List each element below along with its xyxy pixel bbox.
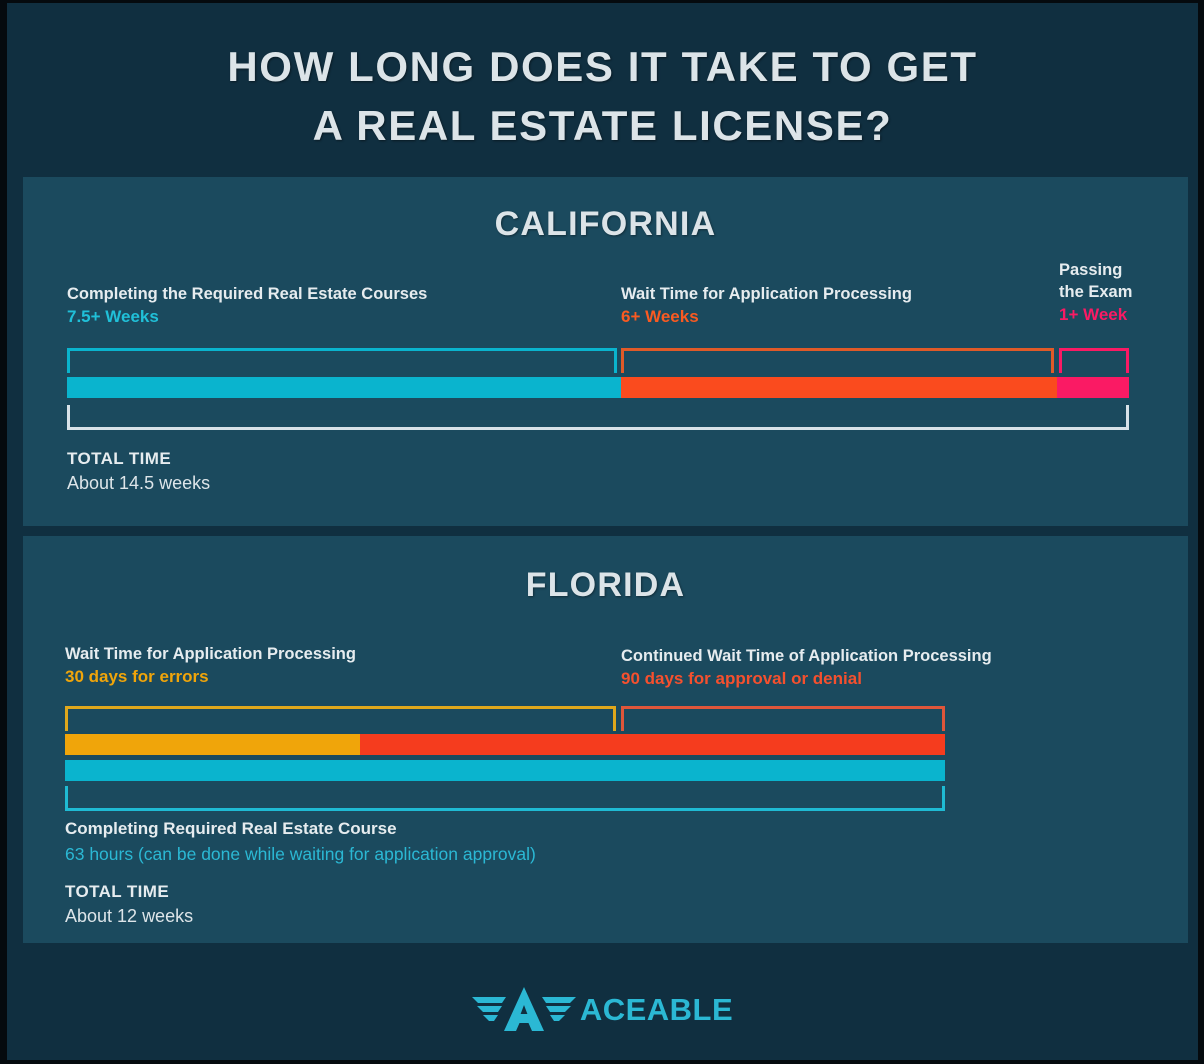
florida-total-label: TOTAL TIME bbox=[65, 880, 193, 903]
california-bar-segment-exam bbox=[1057, 377, 1129, 398]
florida-course-note-value: 63 hours (can be done while waiting for … bbox=[65, 841, 536, 867]
page-title-line-1: HOW LONG DOES IT TAKE TO GET bbox=[7, 37, 1198, 96]
florida-total-value: About 12 weeks bbox=[65, 903, 193, 929]
infographic-root: HOW LONG DOES IT TAKE TO GET A REAL ESTA… bbox=[0, 0, 1204, 1064]
california-total-block: TOTAL TIME About 14.5 weeks bbox=[67, 447, 210, 496]
florida-bar-segment-wait bbox=[65, 734, 360, 755]
california-bracket-wait bbox=[621, 348, 1054, 373]
page-title-line-2: A REAL ESTATE LICENSE? bbox=[7, 96, 1198, 155]
footer-logo: ACEABLE bbox=[7, 983, 1198, 1035]
california-total-label: TOTAL TIME bbox=[67, 447, 210, 470]
california-total-value: About 14.5 weeks bbox=[67, 470, 210, 496]
florida-course-note-title: Completing Required Real Estate Course bbox=[65, 817, 536, 841]
florida-bracket-wait bbox=[65, 706, 616, 731]
california-panel: CALIFORNIA Completing the Required Real … bbox=[23, 177, 1188, 526]
california-bracket-exam bbox=[1059, 348, 1129, 373]
page-title: HOW LONG DOES IT TAKE TO GET A REAL ESTA… bbox=[7, 37, 1198, 155]
florida-panel: FLORIDA Wait Time for Application Proces… bbox=[23, 536, 1188, 943]
florida-bar-segment-continued bbox=[360, 734, 945, 755]
aceable-winged-a-logo-icon bbox=[472, 983, 576, 1035]
california-bar-segment-courses bbox=[67, 377, 621, 398]
florida-bar-chart bbox=[23, 536, 1188, 943]
florida-total-bracket bbox=[65, 786, 945, 811]
florida-bracket-continued bbox=[621, 706, 945, 731]
florida-course-note: Completing Required Real Estate Course 6… bbox=[65, 817, 536, 867]
aceable-wordmark: ACEABLE bbox=[580, 994, 733, 1025]
california-bracket-courses bbox=[67, 348, 617, 373]
california-bar-segment-wait bbox=[621, 377, 1057, 398]
florida-total-block: TOTAL TIME About 12 weeks bbox=[65, 880, 193, 929]
florida-bar-course-overlay bbox=[65, 760, 945, 781]
california-total-bracket bbox=[67, 405, 1129, 430]
